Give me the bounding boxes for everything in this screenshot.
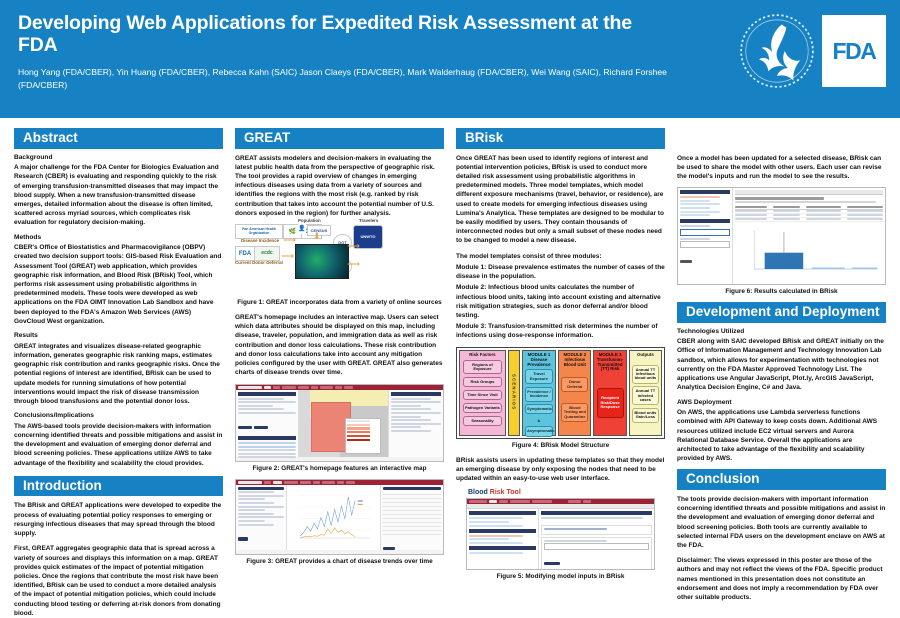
- fda-source-logo-icon: FDA: [235, 246, 255, 261]
- introduction-paragraph-1: The BRisk and GREAT applications were de…: [14, 501, 223, 538]
- abstract-methods-label: Methods: [14, 234, 223, 243]
- control-line[interactable]: [238, 405, 273, 407]
- diagram-node-risk-groups: Risk Groups: [463, 377, 502, 387]
- figure-5-brisk-inputs-screenshot[interactable]: [466, 498, 655, 570]
- table-row[interactable]: [238, 453, 296, 455]
- map-legend: [345, 418, 381, 454]
- column-brisk: BRisk Once GREAT has been used to identi…: [450, 128, 671, 587]
- figure-5-caption: Figure 5: Modifying model inputs in BRis…: [456, 573, 665, 580]
- filter-dropdown[interactable]: [238, 491, 274, 493]
- filter-option[interactable]: [238, 509, 265, 511]
- arrow-travelers-icon: ⟶: [347, 242, 360, 251]
- arrow-disease-incidence-icon: ⟶: [283, 236, 296, 245]
- detail-row: [391, 412, 441, 414]
- figure-2-caption: Figure 2: GREAT's homepage features an i…: [235, 465, 444, 472]
- run-model-button[interactable]: [680, 260, 692, 263]
- great-app-body: [236, 390, 443, 457]
- detail-row: [391, 423, 441, 425]
- section-header-great: GREAT: [235, 128, 444, 149]
- sidebar-item-recipient-risk-dose-response[interactable]: [469, 552, 523, 554]
- disease-trend-chart: [287, 485, 381, 550]
- table-row: [383, 531, 441, 535]
- sidebar-item-transfusion-transmitted-cases[interactable]: [680, 196, 720, 198]
- panel-header-blood-donations: [541, 511, 652, 515]
- diagram-node-blood-units-gain-loss: Blood units Gain/Loss: [632, 408, 659, 423]
- update-chart-button[interactable]: [238, 537, 248, 540]
- legend-swatch: [347, 439, 370, 441]
- brisk-module-1-text: Module 1: Disease prevalence estimates t…: [456, 263, 665, 281]
- legend-title: [347, 420, 370, 422]
- ecdc-logo-icon: ecdc: [254, 246, 280, 261]
- sidebar-item-blood-donations[interactable]: [469, 535, 523, 537]
- nav-item-modeling[interactable]: [298, 386, 309, 389]
- panel-header-region-detail: [391, 392, 441, 396]
- great-chart-data-table[interactable]: [380, 485, 443, 550]
- figure-6-brisk-results-screenshot[interactable]: [677, 187, 886, 285]
- sidebar-item-asymptomatic[interactable]: [469, 521, 509, 523]
- sidebar-header-module-3: [469, 546, 536, 550]
- detail-row: [391, 405, 421, 407]
- figure-3-great-chart-screenshot[interactable]: [235, 479, 444, 555]
- conclusion-disclaimer: Disclaimer: The views expressed in this …: [677, 556, 886, 602]
- diagram-column-title: MODULE 3 Transfusion-Transmitted (TT) Ri…: [595, 353, 624, 373]
- column-header-mean: [773, 206, 800, 208]
- great-interactive-map[interactable]: [299, 390, 388, 457]
- filter-header: [238, 487, 284, 490]
- sidebar-item-blood-testing-quarantine[interactable]: [469, 542, 523, 544]
- sidebar-header-select-options: [680, 219, 730, 223]
- table-row[interactable]: [238, 446, 296, 448]
- control-line[interactable]: [238, 398, 284, 400]
- diagram-column-title: SCENARIOS: [511, 374, 516, 410]
- table-row[interactable]: [238, 442, 296, 444]
- detail-row: [391, 416, 421, 418]
- blood-risk-tool-title: Blood Risk Tool: [468, 489, 655, 496]
- nav-item-results[interactable]: [499, 500, 508, 503]
- introduction-paragraph-2: First, GREAT aggregates geographic data …: [14, 544, 223, 618]
- hhs-seal-icon: [738, 10, 816, 92]
- column-header-lower-limit: [806, 206, 842, 208]
- table-row[interactable]: [238, 449, 296, 451]
- great-chart-body: [236, 485, 443, 550]
- sidebar-item-transfusion-blood-units[interactable]: [680, 203, 720, 205]
- section-header-conclusion: Conclusion: [677, 469, 886, 490]
- annual-donation-rate-field-group: [541, 537, 652, 571]
- nav-item-data[interactable]: [273, 386, 280, 389]
- download-data-button[interactable]: [383, 547, 395, 550]
- abstract-results-text: GREAT integrates and visualizes disease-…: [14, 342, 223, 407]
- control-line[interactable]: [238, 408, 284, 410]
- diagram-column-module-2: MODULE 2 Infectious Blood Unit Donor Def…: [558, 350, 591, 436]
- diagram-node-blood-testing-quarantine: Blood Testing and Quarantine: [561, 403, 588, 422]
- control-line[interactable]: [238, 401, 296, 403]
- trend-chart-plot: [291, 489, 377, 546]
- diagram-column-title: MODULE 2 Infectious Blood Unit: [560, 353, 589, 368]
- reset-button[interactable]: [254, 426, 268, 429]
- diagram-node-donor-deferral: Donor Deferral: [561, 377, 588, 392]
- results-paragraph-1: Once a model has been updated for a sele…: [677, 154, 886, 182]
- diagram-node-annual-tt-infectious-blood-units: Annual TT infectious blood units: [632, 365, 659, 384]
- aws-deployment-label: AWS Deployment: [677, 399, 886, 408]
- diagram-column-title: Outputs: [637, 353, 654, 358]
- sidebar-header-detail-results: [680, 190, 730, 194]
- legend-swatch: [347, 424, 370, 426]
- brisk-results-sidebar[interactable]: [678, 188, 733, 284]
- brisk-inputs-body: [467, 509, 654, 570]
- table-header: [383, 487, 441, 490]
- arrow-immigrants-icon: ⟶: [347, 260, 360, 269]
- annual-donation-rate-input[interactable]: [544, 543, 649, 550]
- column-abstract-introduction: Abstract Background A major challenge fo…: [8, 128, 229, 587]
- figure-1-caption: Figure 1: GREAT incorporates data from a…: [235, 299, 444, 306]
- nav-item-about[interactable]: [583, 500, 591, 503]
- diagram-node-seasonality: Seasonality: [463, 416, 502, 426]
- abstract-conclusions-label: Conclusions/Implications: [14, 412, 223, 421]
- figure-4-caption: Figure 4: BRisk Model Structure: [456, 442, 665, 449]
- diagram-node-prevalence-incidence: Prevalence / Incidence: [525, 387, 553, 402]
- sidebar-item-residual-infectious-risk[interactable]: [680, 211, 720, 213]
- accordion-title[interactable]: [544, 528, 607, 530]
- abstract-methods-text: CBER's Office of Biostatistics and Pharm…: [14, 243, 223, 326]
- nav-item-help[interactable]: [335, 386, 342, 389]
- legend-swatch: [347, 431, 370, 433]
- detail-row: [391, 426, 421, 428]
- select-label-scenario: [680, 238, 710, 240]
- detail-row: [391, 401, 441, 403]
- filter-option[interactable]: [238, 520, 265, 522]
- detail-row: [391, 419, 431, 421]
- figure-5-wrapper: Blood Risk Tool: [456, 489, 665, 570]
- sidebar-item-infectious-donations[interactable]: [680, 207, 710, 209]
- nav-item-components[interactable]: [282, 386, 296, 389]
- results-subtitle: [735, 197, 824, 199]
- column-great: GREAT GREAT assists modelers and decisio…: [229, 128, 450, 587]
- filter-option[interactable]: [238, 495, 284, 497]
- filter-option[interactable]: [238, 516, 284, 518]
- abstract-background-label: Background: [14, 154, 223, 163]
- diagram-node-annual-tt-infected-cases: Annual TT infected cases: [632, 386, 659, 405]
- panel-description: [541, 517, 643, 519]
- brisk-results-body: [678, 188, 885, 284]
- great-paragraph-2: GREAT's homepage includes an interactive…: [235, 313, 444, 378]
- figure-3-caption: Figure 3: GREAT provides a chart of dise…: [235, 558, 444, 565]
- nav-item-map[interactable]: [264, 386, 271, 389]
- nav-item-model-overview[interactable]: [469, 500, 487, 503]
- panel-header-risk-contribution: [238, 436, 296, 440]
- nav-item-components[interactable]: [284, 481, 298, 484]
- diagram-column-risk-factors: Risk Factors Regions of Exposure Risk Gr…: [459, 350, 506, 436]
- diagram-column-scenarios: SCENARIOS: [508, 350, 520, 436]
- section-header-development-deployment: Development and Deployment: [677, 302, 886, 323]
- technologies-utilized-text: CBER along with SAIC developed BRisk and…: [677, 337, 886, 392]
- diagram-node-time-since-visit: Time Since Visit: [463, 390, 502, 400]
- poster-canvas: Developing Web Applications for Expedite…: [0, 0, 900, 579]
- sidebar-item-donor-deferral[interactable]: [469, 538, 509, 540]
- column-header-scenario: [735, 206, 768, 208]
- abstract-conclusions-text: The AWS-based tools provide decision-mak…: [14, 422, 223, 468]
- detail-row: [391, 408, 431, 410]
- results-note: [735, 201, 876, 203]
- label-disease-incidence: Disease Incidence: [241, 238, 279, 243]
- brisk-paragraph-3: BRisk assists users in updating these te…: [456, 456, 665, 484]
- diagram-column-outputs: Outputs Annual TT infectious blood units…: [629, 350, 662, 436]
- annual-donation-rate-accordion[interactable]: [541, 525, 652, 535]
- column-header-upper-limit: [847, 206, 883, 208]
- results-table: [735, 206, 883, 222]
- abstract-results-label: Results: [14, 332, 223, 341]
- figure-2-great-map-screenshot[interactable]: [235, 384, 444, 462]
- filter-option[interactable]: [238, 513, 274, 515]
- author-list: Hong Yang (FDA/CBER), Yin Huang (FDA/CBE…: [18, 66, 668, 91]
- control-line[interactable]: [238, 412, 296, 414]
- nav-item-importance-analysis[interactable]: [510, 500, 530, 503]
- diagram-column-title: MODULE 1 Disease Prevalence: [524, 353, 555, 368]
- diagram-node-pathogen-variants: Pathogen Variants: [463, 403, 502, 413]
- abstract-background-text: A major challenge for the FDA Center for…: [14, 163, 223, 228]
- diagram-node-ampersand: &: [525, 417, 553, 425]
- sidebar-item-donor-deferral[interactable]: [680, 214, 710, 216]
- label-population: Population: [298, 218, 321, 223]
- great-map-controls-panel[interactable]: [236, 390, 299, 457]
- sidebar-header-module-1: [469, 511, 536, 515]
- panel-header-map-attributes: [238, 392, 296, 396]
- table-row[interactable]: [238, 456, 296, 458]
- header-logos: FDA: [686, 8, 900, 92]
- aws-deployment-text: On AWS, the applications use Lambda serv…: [677, 408, 886, 463]
- legend-swatch: [347, 435, 370, 437]
- legend-swatch: [347, 427, 370, 429]
- fda-logo: FDA: [822, 15, 886, 87]
- fda-logo-text: FDA: [832, 38, 875, 65]
- header-text-block: Developing Web Applications for Expedite…: [0, 8, 686, 91]
- sidebar-item-transfusion-transmitted-units[interactable]: [680, 200, 710, 202]
- scenario-select[interactable]: [680, 241, 730, 248]
- diagram-node-recipient-risk-dose-response: Recipient Risk/Dose Response: [597, 388, 624, 417]
- filter-option[interactable]: [238, 524, 274, 526]
- nav-item-admin[interactable]: [320, 386, 333, 389]
- nav-item-modeling[interactable]: [300, 481, 311, 484]
- diagram-node-symptomatic: Symptomatic: [525, 404, 553, 414]
- nav-item-help[interactable]: [337, 481, 344, 484]
- nav-item-logout[interactable]: [346, 481, 355, 484]
- detail-row: [391, 430, 431, 432]
- results-panel-header: [735, 190, 883, 195]
- diagram-column-module-3: MODULE 3 Transfusion-Transmitted (TT) Ri…: [593, 350, 626, 436]
- figure-6-caption: Figure 6: Results calculated in BRisk: [677, 288, 886, 295]
- region-select[interactable]: [680, 229, 730, 236]
- brisk-paragraph-1: Once GREAT has been used to identify reg…: [456, 154, 665, 246]
- nav-item-admin[interactable]: [322, 481, 335, 484]
- save-changes-button[interactable]: [544, 562, 560, 565]
- label-travelers: Travelers: [359, 218, 378, 223]
- filter-option[interactable]: [238, 506, 284, 508]
- great-app-title: [238, 386, 262, 389]
- transfusion-transmitted-cases-bar-chart: [735, 226, 883, 268]
- field-label-annual-donation-rate: [544, 540, 607, 542]
- detail-row: [391, 398, 431, 400]
- section-header-brisk: BRisk: [456, 128, 665, 149]
- diagram-column-title: Risk Factors: [469, 353, 495, 358]
- nav-item-user-guide[interactable]: [568, 500, 581, 503]
- diagram-column-module-1: MODULE 1 Disease Prevalence Travel Expos…: [522, 350, 557, 436]
- label-current-donor-deferral: Current Donor Deferral: [235, 260, 283, 265]
- brisk-modules-intro: The model templates consist of three mod…: [456, 252, 665, 261]
- sidebar-item-prevalence[interactable]: [469, 517, 523, 519]
- brt-title-word-1: Blood: [468, 489, 488, 496]
- filter-option[interactable]: [238, 502, 274, 504]
- nav-item-sensitivity-analysis[interactable]: [532, 500, 552, 503]
- great-globe-graphic: [295, 244, 349, 279]
- brisk-module-3-text: Module 3: Transfusion-transmitted risk d…: [456, 322, 665, 340]
- sidebar-item-travel-data[interactable]: [469, 525, 523, 527]
- nav-item-inputs[interactable]: [489, 500, 497, 503]
- nav-item-map[interactable]: [264, 481, 271, 484]
- sidebar-header-module-2: [469, 529, 536, 533]
- brisk-module-2-text: Module 2: Infectious blood units calcula…: [456, 283, 665, 320]
- poster-columns: Abstract Background A major challenge fo…: [0, 122, 900, 587]
- page-title: Developing Web Applications for Expedite…: [18, 12, 676, 56]
- section-header-introduction: Introduction: [14, 476, 223, 497]
- great-region-detail-panel[interactable]: [388, 390, 443, 457]
- poster-header: Developing Web Applications for Expedite…: [0, 0, 900, 118]
- paho-logo-icon: Pan American Health Organization: [235, 224, 283, 239]
- figure-1-data-sources-diagram: Pan American Health Organization 🌿 CDC D…: [235, 224, 444, 296]
- figure-4-brisk-model-structure: Risk Factors Regions of Exposure Risk Gr…: [456, 347, 665, 439]
- column-results-deployment-conclusion: Once a model has been updated for a sele…: [671, 128, 892, 587]
- select-label-region: [680, 225, 710, 227]
- brisk-results-main: [733, 188, 885, 284]
- nav-item-input[interactable]: [313, 481, 320, 484]
- table-row: [735, 218, 883, 222]
- great-app-title: [238, 481, 262, 484]
- arrow-donor-deferral-icon: ⟶: [281, 252, 294, 261]
- apply-button[interactable]: [238, 426, 252, 429]
- brt-title-word-2: Risk Tool: [490, 489, 521, 496]
- person-icon: 👤: [298, 224, 306, 234]
- great-paragraph-1: GREAT assists modelers and decision-make…: [235, 154, 444, 219]
- nav-item-data[interactable]: [273, 481, 282, 484]
- filter-option[interactable]: [238, 498, 265, 500]
- nav-item-logout[interactable]: [344, 386, 353, 389]
- diagram-node-asymptomatic: Asymptomatic: [525, 426, 553, 436]
- diagram-node-regions-of-exposure: Regions of Exposure: [463, 360, 502, 375]
- diagram-node-travel-exposure: Travel Exposure: [525, 369, 553, 384]
- great-chart-filter-panel[interactable]: [236, 485, 287, 550]
- technologies-utilized-label: Technologies Utilized: [677, 328, 886, 337]
- arrow-population-icon: ⬇: [313, 232, 321, 241]
- brisk-input-panel[interactable]: [539, 509, 654, 570]
- section-header-abstract: Abstract: [14, 128, 223, 149]
- nav-item-input[interactable]: [311, 386, 318, 389]
- brisk-module-sidebar[interactable]: [467, 509, 539, 570]
- conclusion-paragraph-1: The tools provide decision-makers with i…: [677, 495, 886, 550]
